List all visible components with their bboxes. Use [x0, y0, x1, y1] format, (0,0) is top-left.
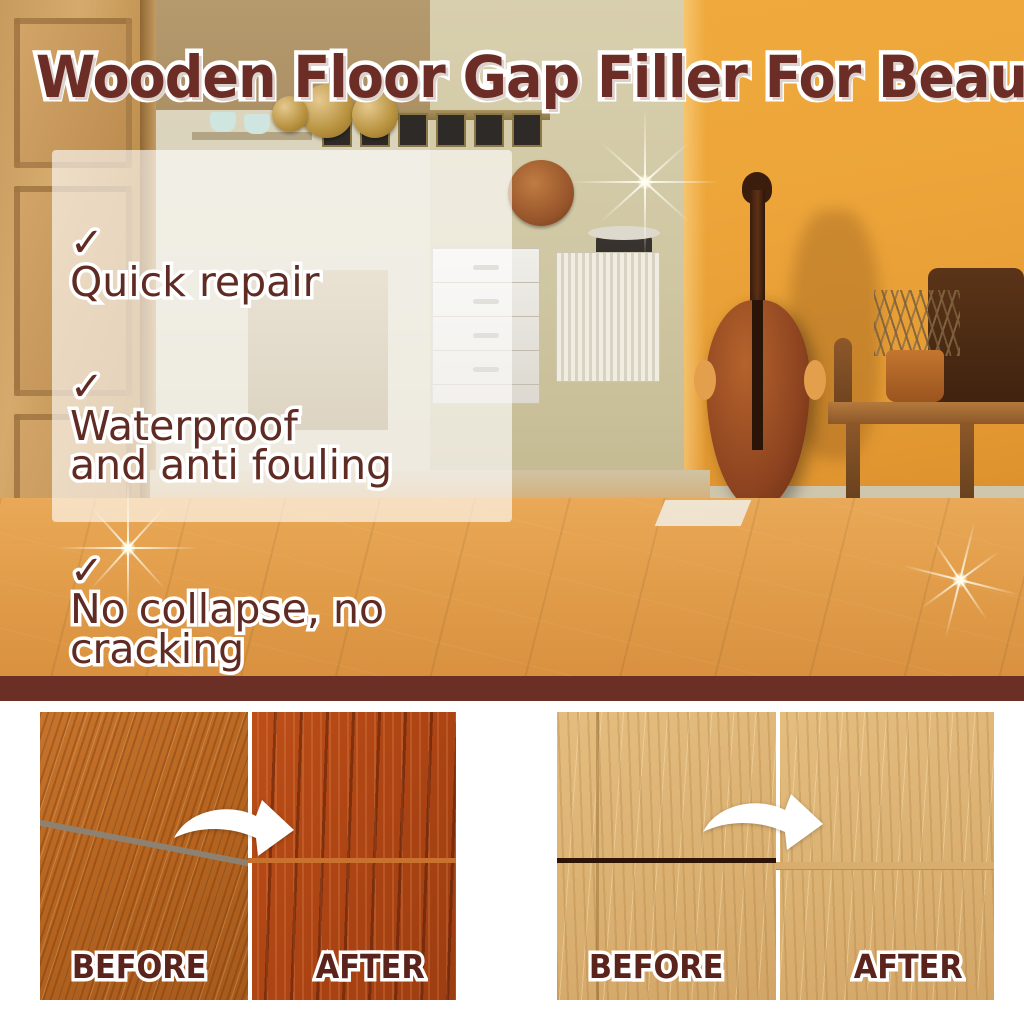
chalkboard-label — [512, 113, 542, 147]
sheet-music — [655, 500, 752, 526]
chalkboard-label — [474, 113, 504, 147]
feature-label: Quick repair — [70, 258, 320, 306]
feature-label: No collapse, no cracking — [70, 585, 384, 672]
floor-gap-after — [776, 862, 995, 870]
feature-list-panel: ✓ Quick repair ✓ Waterproof and anti fou… — [52, 150, 512, 522]
transformation-arrow-icon — [170, 794, 298, 868]
before-label: BEFORE — [589, 947, 724, 986]
wall-basket-icon — [508, 160, 574, 226]
chalkboard-label — [436, 113, 466, 147]
comparison-panel-dark-wood: BEFORE AFTER — [40, 712, 456, 1000]
after-label: AFTER — [316, 947, 425, 986]
radiator — [556, 252, 660, 382]
before-label: BEFORE — [72, 947, 207, 986]
clay-pot — [886, 350, 944, 402]
chalkboard-label — [398, 113, 428, 147]
transformation-arrow-icon — [699, 788, 827, 862]
dried-plant — [874, 290, 960, 356]
cello-waist-left — [694, 360, 716, 400]
after-label: AFTER — [854, 947, 963, 986]
feature-item-2: ✓ Waterproof and anti fouling — [70, 328, 498, 485]
cup-icon — [210, 112, 236, 132]
bench-seat — [828, 402, 1024, 424]
page-title: Wooden Floor Gap Filler For Beautiful — [36, 48, 988, 106]
cello-neck — [750, 190, 765, 315]
section-divider — [0, 676, 1024, 701]
cup-icon — [244, 114, 270, 134]
bench-arm — [834, 338, 852, 408]
cello-waist-right — [804, 360, 826, 400]
cello-fingerboard — [752, 300, 763, 450]
feature-label: Waterproof and anti fouling — [70, 402, 392, 489]
feature-item-3: ✓ No collapse, no cracking — [70, 512, 498, 669]
comparison-panel-light-oak: BEFORE AFTER — [557, 712, 994, 1000]
comparison-section: BEFORE AFTER BEFORE AFTER — [0, 701, 1024, 1024]
feature-item-1: ✓ Quick repair — [70, 184, 498, 302]
